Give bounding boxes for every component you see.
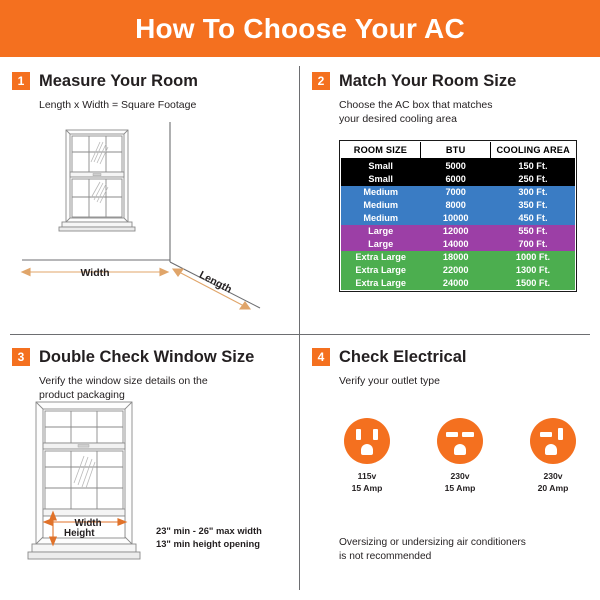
section-match-your-room-size: 2 Match Your Room Size Choose the AC box…	[312, 72, 594, 330]
cell-btu: 10000	[420, 212, 491, 225]
btu-table: ROOM SIZE BTU COOLING AREA Small 5000 15…	[341, 142, 575, 290]
column-header-cooling-area: COOLING AREA	[491, 142, 575, 159]
section-2-subtitle: Choose the AC box that matches your desi…	[339, 99, 594, 126]
table-row: Small 6000 250 Ft.	[341, 173, 575, 186]
cell-cooling-area: 550 Ft.	[491, 225, 575, 238]
table-row: Extra Large 18000 1000 Ft.	[341, 251, 575, 264]
cell-cooling-area: 350 Ft.	[491, 199, 575, 212]
footnote-line-1: Oversizing or undersizing air conditione…	[339, 536, 526, 550]
outlet-option-1: 115v 15 Amp	[330, 418, 404, 494]
table-row: Medium 7000 300 Ft.	[341, 186, 575, 199]
outlet-1-label: 115v 15 Amp	[330, 471, 404, 494]
cell-cooling-area: 1300 Ft.	[491, 264, 575, 277]
section-1-number: 1	[12, 72, 30, 90]
table-row: Medium 10000 450 Ft.	[341, 212, 575, 225]
cell-btu: 18000	[420, 251, 491, 264]
cell-room-size: Medium	[341, 186, 420, 199]
cell-cooling-area: 250 Ft.	[491, 173, 575, 186]
cell-btu: 14000	[420, 238, 491, 251]
page-header: How To Choose Your AC	[0, 0, 600, 57]
outlet-option-3: 230v 20 Amp	[516, 418, 590, 494]
table-row: Extra Large 22000 1300 Ft.	[341, 264, 575, 277]
cell-btu: 5000	[420, 159, 491, 173]
section-3-number: 3	[12, 348, 30, 366]
window-size-diagram: Width Height	[22, 398, 152, 574]
outlet-types-group: 115v 15 Amp 230v 15 Amp 230v	[330, 418, 590, 494]
outlet-option-2: 230v 15 Amp	[423, 418, 497, 494]
cell-btu: 12000	[420, 225, 491, 238]
cell-cooling-area: 150 Ft.	[491, 159, 575, 173]
outlet-3-volts: 230v	[516, 471, 590, 483]
cell-btu: 24000	[420, 277, 491, 290]
outlet-115v-15amp-icon	[344, 418, 390, 464]
outlet-3-amps: 20 Amp	[516, 483, 590, 495]
cell-room-size: Extra Large	[341, 277, 420, 290]
outlet-230v-20amp-icon	[530, 418, 576, 464]
section-3-title: Double Check Window Size	[39, 349, 254, 366]
width-label-1: Width	[80, 267, 109, 279]
section-1-title: Measure Your Room	[39, 73, 198, 90]
outlet-1-volts: 115v	[330, 471, 404, 483]
column-header-btu: BTU	[420, 142, 491, 159]
outlet-230v-15amp-icon	[437, 418, 483, 464]
cell-room-size: Extra Large	[341, 251, 420, 264]
section-2-header: 2 Match Your Room Size	[312, 72, 594, 90]
window-note-line-2: 13" min height opening	[156, 537, 262, 550]
outlet-1-amps: 15 Amp	[330, 483, 404, 495]
section-4-title: Check Electrical	[339, 349, 467, 366]
outlet-3-label: 230v 20 Amp	[516, 471, 590, 494]
room-measure-diagram: Width Length	[18, 122, 290, 318]
length-label: Length	[197, 269, 234, 296]
cell-btu: 6000	[420, 173, 491, 186]
btu-table-container: ROOM SIZE BTU COOLING AREA Small 5000 15…	[339, 140, 577, 292]
vertical-divider	[299, 66, 300, 590]
table-row: Small 5000 150 Ft.	[341, 159, 575, 173]
cell-room-size: Small	[341, 173, 420, 186]
outlet-2-volts: 230v	[423, 471, 497, 483]
cell-room-size: Small	[341, 159, 420, 173]
section-4-number: 4	[312, 348, 330, 366]
cell-cooling-area: 450 Ft.	[491, 212, 575, 225]
cell-room-size: Medium	[341, 199, 420, 212]
table-header-row: ROOM SIZE BTU COOLING AREA	[341, 142, 575, 159]
sizing-footnote: Oversizing or undersizing air conditione…	[339, 536, 526, 564]
outlet-2-label: 230v 15 Amp	[423, 471, 497, 494]
section-2-title: Match Your Room Size	[339, 73, 516, 90]
table-row: Large 12000 550 Ft.	[341, 225, 575, 238]
horizontal-divider	[10, 334, 590, 335]
cell-btu: 7000	[420, 186, 491, 199]
window-size-note: 23" min - 26" max width 13" min height o…	[156, 524, 262, 550]
section-2-number: 2	[312, 72, 330, 90]
cell-room-size: Medium	[341, 212, 420, 225]
cell-cooling-area: 700 Ft.	[491, 238, 575, 251]
outlet-2-amps: 15 Amp	[423, 483, 497, 495]
cell-cooling-area: 1500 Ft.	[491, 277, 575, 290]
cell-room-size: Large	[341, 238, 420, 251]
table-row: Medium 8000 350 Ft.	[341, 199, 575, 212]
section-3-header: 3 Double Check Window Size	[12, 348, 294, 366]
table-row: Extra Large 24000 1500 Ft.	[341, 277, 575, 290]
section-4-header: 4 Check Electrical	[312, 348, 594, 366]
section-1-header: 1 Measure Your Room	[12, 72, 294, 90]
page-title: How To Choose Your AC	[135, 15, 465, 43]
cell-room-size: Large	[341, 225, 420, 238]
btu-table-body: Small 5000 150 Ft. Small 6000 250 Ft. Me…	[341, 159, 575, 290]
section-4-subtitle: Verify your outlet type	[339, 375, 594, 389]
table-row: Large 14000 700 Ft.	[341, 238, 575, 251]
cell-room-size: Extra Large	[341, 264, 420, 277]
cell-btu: 8000	[420, 199, 491, 212]
cell-cooling-area: 1000 Ft.	[491, 251, 575, 264]
footnote-line-2: is not recommended	[339, 550, 526, 564]
section-1-subtitle: Length x Width = Square Footage	[39, 99, 294, 113]
cell-btu: 22000	[420, 264, 491, 277]
window-note-line-1: 23" min - 26" max width	[156, 524, 262, 537]
cell-cooling-area: 300 Ft.	[491, 186, 575, 199]
infographic-page: How To Choose Your AC 1 Measure Your Roo…	[0, 0, 600, 600]
column-header-room-size: ROOM SIZE	[341, 142, 420, 159]
height-label: Height	[64, 528, 95, 539]
